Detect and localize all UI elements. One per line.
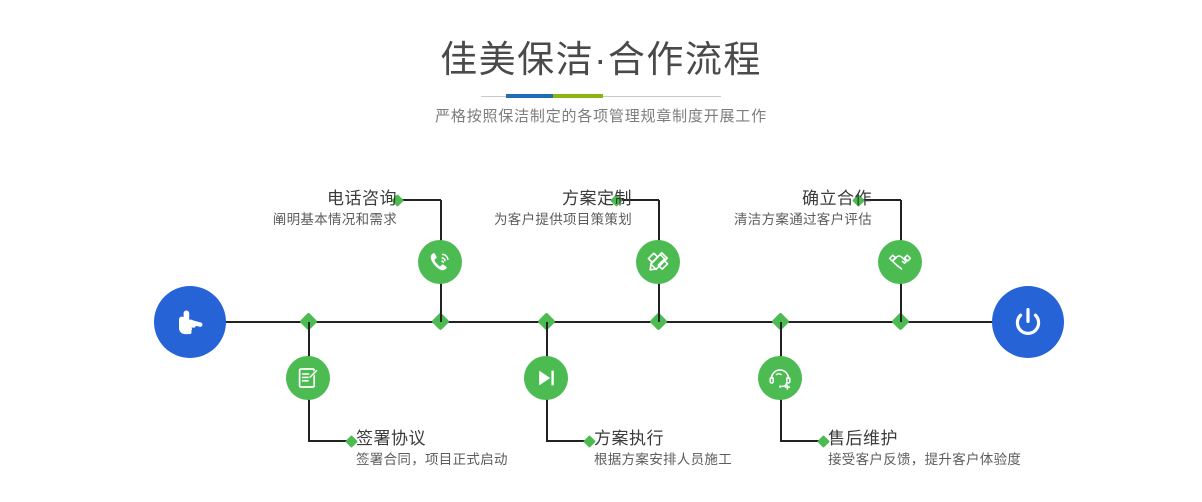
step-label-1: 电话咨询 阐明基本情况和需求 <box>273 188 397 230</box>
step-label-3: 方案定制 为客户提供项目策策划 <box>494 188 632 230</box>
timeline-start-node <box>154 286 226 358</box>
page-title: 佳美保洁·合作流程 <box>0 38 1202 82</box>
step-title-5: 确立合作 <box>734 188 872 210</box>
handshake-icon <box>887 249 913 275</box>
step-icon-5[interactable] <box>878 240 922 284</box>
step-icon-2[interactable] <box>286 356 330 400</box>
step-desc-3: 为客户提供项目策策划 <box>494 212 632 227</box>
customer-service-icon <box>767 365 793 391</box>
phone-call-icon <box>427 249 453 275</box>
step-icon-6[interactable] <box>758 356 802 400</box>
step-title-4: 方案执行 <box>594 428 732 450</box>
pointing-hand-icon <box>170 302 210 342</box>
step-desc-5: 清洁方案通过客户评估 <box>734 212 872 227</box>
page-header: 佳美保洁·合作流程 严格按照保洁制定的各项管理规章制度开展工作 <box>0 0 1202 150</box>
page-subtitle: 严格按照保洁制定的各项管理规章制度开展工作 <box>0 106 1202 128</box>
flow-diagram-page: 佳美保洁·合作流程 严格按照保洁制定的各项管理规章制度开展工作 <box>0 0 1202 502</box>
step-label-6: 售后维护 接受客户反馈，提升客户体验度 <box>828 428 1021 470</box>
step-title-6: 售后维护 <box>828 428 1021 450</box>
step-title-1: 电话咨询 <box>273 188 397 210</box>
step-desc-6: 接受客户反馈，提升客户体验度 <box>828 452 1021 467</box>
timeline-end-node <box>992 286 1064 358</box>
step-icon-1[interactable] <box>418 240 462 284</box>
step-label-4: 方案执行 根据方案安排人员施工 <box>594 428 732 470</box>
step-title-2: 签署协议 <box>356 428 508 450</box>
power-button-icon <box>1008 302 1048 342</box>
step-desc-1: 阐明基本情况和需求 <box>273 212 397 227</box>
step-desc-4: 根据方案安排人员施工 <box>594 452 732 467</box>
step-icon-4[interactable] <box>524 356 568 400</box>
divider-green-segment <box>553 94 603 98</box>
pencil-ruler-icon <box>645 249 671 275</box>
step-label-2: 签署协议 签署合同，项目正式启动 <box>356 428 508 470</box>
step-desc-2: 签署合同，项目正式启动 <box>356 452 508 467</box>
play-execute-icon <box>533 365 559 391</box>
step-label-5: 确立合作 清洁方案通过客户评估 <box>734 188 872 230</box>
title-divider <box>481 94 721 98</box>
step-icon-3[interactable] <box>636 240 680 284</box>
step-title-3: 方案定制 <box>494 188 632 210</box>
divider-blue-segment <box>506 94 553 98</box>
document-edit-icon <box>295 365 321 391</box>
